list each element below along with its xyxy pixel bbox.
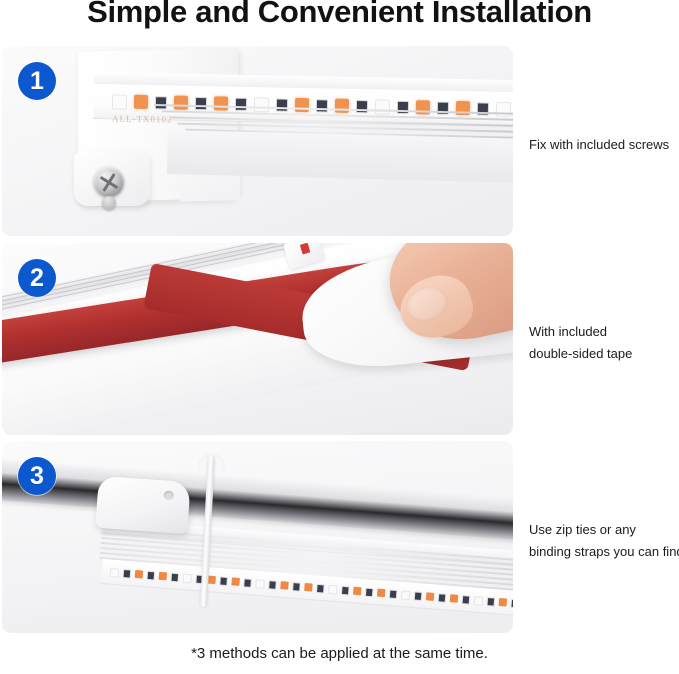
mounting-pole xyxy=(2,459,513,542)
led-chip-blue xyxy=(389,589,398,599)
phillips-screw-icon xyxy=(94,167,124,197)
led-chip-orange xyxy=(304,583,313,592)
step-2-photo: 2 xyxy=(2,243,513,435)
led-chip-white xyxy=(401,590,411,600)
step-1-caption-line-1: Fix with included screws xyxy=(529,134,679,156)
led-chip-blue xyxy=(219,576,228,586)
led-chip-blue xyxy=(123,569,132,579)
step-2-caption: With included double-sided tape xyxy=(529,321,679,365)
page-title: Simple and Convenient Installation xyxy=(0,0,679,30)
led-chip-orange xyxy=(499,598,508,607)
led-chip-orange xyxy=(135,570,144,579)
step-3-caption: Use zip ties or any binding straps you c… xyxy=(529,519,679,563)
led-chip-orange xyxy=(231,577,240,586)
zip-tie-loop xyxy=(197,452,227,474)
screw-tip xyxy=(102,196,116,210)
step-1-caption: Fix with included screws xyxy=(529,134,679,156)
step-2-caption-line-2: double-sided tape xyxy=(529,343,679,365)
step-3-photo: 3 xyxy=(2,441,513,633)
led-chip-white xyxy=(110,568,120,578)
footnote: *3 methods can be applied at the same ti… xyxy=(0,645,679,662)
led-chip-orange xyxy=(134,95,148,109)
led-chip-blue xyxy=(170,572,179,582)
led-bar-housing xyxy=(167,130,513,183)
led-chip-white xyxy=(255,579,265,589)
led-chip-orange xyxy=(426,592,435,601)
led-chip-blue xyxy=(292,582,301,592)
led-chip-blue xyxy=(243,578,252,588)
led-chip-orange xyxy=(353,587,362,596)
led-chip-blue xyxy=(487,597,496,607)
led-chip-blue xyxy=(341,585,350,595)
led-chip-orange xyxy=(280,581,289,590)
led-chip-blue xyxy=(438,593,447,603)
led-chip-blue xyxy=(147,570,156,580)
led-chip-orange xyxy=(207,576,216,585)
led-chip-blue xyxy=(462,595,471,605)
step-badge-1: 1 xyxy=(18,62,56,100)
led-chip-blue xyxy=(316,583,325,593)
led-chip-white xyxy=(112,94,127,109)
led-chip-orange xyxy=(377,589,386,598)
led-chip-blue xyxy=(510,598,513,608)
step-badge-3: 3 xyxy=(18,457,56,495)
step-3-caption-line-2: binding straps you can find xyxy=(529,541,679,563)
led-chip-blue xyxy=(365,587,374,597)
led-chip-white xyxy=(474,596,484,606)
led-chip-blue xyxy=(268,580,277,590)
led-chip-white xyxy=(328,584,338,594)
step-2-caption-line-1: With included xyxy=(529,321,679,343)
step-3-caption-line-1: Use zip ties or any xyxy=(529,519,679,541)
led-chip-orange xyxy=(450,594,459,603)
led-chip-blue xyxy=(414,591,423,601)
led-chip-orange xyxy=(159,572,168,581)
installation-infographic: Simple and Convenient Installation xyxy=(0,0,679,674)
step-badge-2: 2 xyxy=(18,259,56,297)
end-cap-clip xyxy=(95,476,190,534)
led-chip-white xyxy=(182,573,192,583)
step-1-photo: ALL-TX0102 1 xyxy=(2,46,513,236)
